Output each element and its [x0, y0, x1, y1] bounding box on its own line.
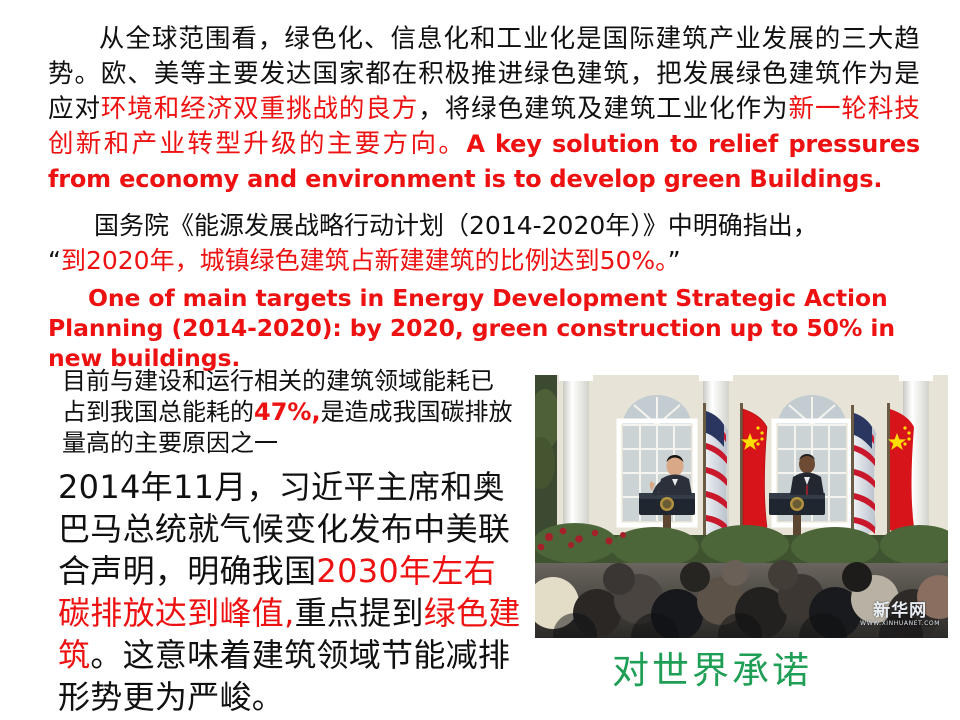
council-quote-line: “到2020年，城镇绿色建筑占新建建筑的比例达到50%。”: [48, 243, 920, 278]
paragraph-global-trend: 从全球范围看，绿色化、信息化和工业化是国际建筑产业发展的三大趋势。欧、美等主要发…: [48, 22, 920, 197]
joint-statement-text-black-2: 重点提到: [295, 594, 424, 632]
quote-close-mark: ”: [668, 246, 681, 275]
council-citation-line: 国务院《能源发展战略行动计划（2014-2020年）》中明确指出，: [94, 211, 818, 240]
council-quote-text: 到2020年，城镇绿色建筑占新建建筑的比例达到50%。: [61, 246, 668, 275]
joint-statement-text-black-3: 。这意味着建筑领域节能减排形势更为严峻。: [58, 636, 510, 716]
paragraph-state-council: 国务院《能源发展战略行动计划（2014-2020年）》中明确指出， “到2020…: [48, 208, 920, 278]
energy-share-percent-value: 47%,: [254, 398, 321, 426]
caption-world-commitment: 对世界承诺: [612, 648, 812, 694]
paragraph-state-council-english: One of main targets in Energy Developmen…: [48, 283, 920, 373]
paragraph-energy-share: 目前与建设和运行相关的建筑领域能耗已占到我国总能耗的47%,是造成我国碳排放量高…: [62, 366, 517, 459]
press-conference-photo: 新华网 WWW.XINHUANET.COM: [535, 367, 948, 638]
global-trend-text-black-2: ，将绿色建筑及建筑工业化作为: [418, 94, 788, 124]
quote-open-mark: “: [48, 246, 61, 275]
global-trend-text-red-1: 环境和经济双重挑战的良方: [101, 94, 418, 124]
slide-canvas: 从全球范围看，绿色化、信息化和工业化是国际建筑产业发展的三大趋势。欧、美等主要发…: [0, 0, 960, 720]
paragraph-joint-statement: 2014年11月，习近平主席和奥巴马总统就气候变化发布中美联合声明，明确我国20…: [58, 466, 528, 718]
council-english-text: One of main targets in Energy Developmen…: [48, 284, 895, 372]
photo-illustration: [535, 367, 948, 638]
